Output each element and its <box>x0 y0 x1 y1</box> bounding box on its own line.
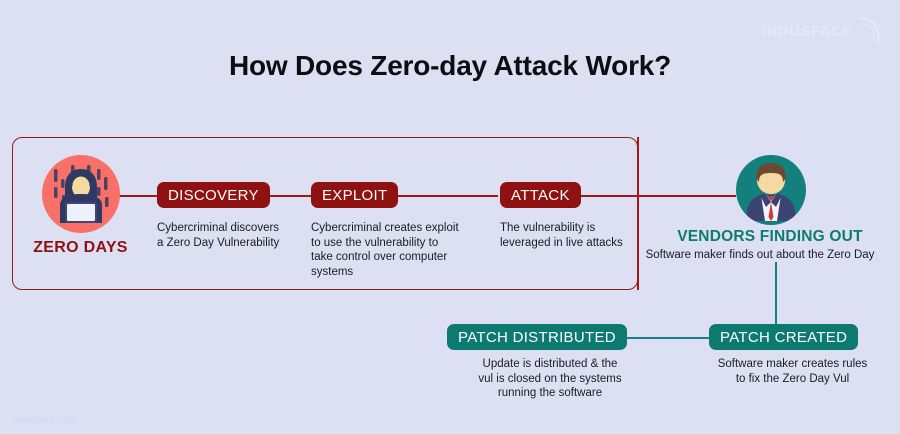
connector-exploit-to-attack <box>383 195 498 197</box>
step-patch-distributed-badge[interactable]: PATCH DISTRIBUTED <box>447 324 627 350</box>
step-exploit-description: Cybercriminal creates exploit to use the… <box>311 221 491 279</box>
businessman-suit-tie-icon <box>736 155 806 225</box>
step-exploit-badge[interactable]: EXPLOIT <box>311 182 398 208</box>
step-attack-badge[interactable]: ATTACK <box>500 182 581 208</box>
step-attack-description: The vulnerability is leveraged in live a… <box>500 221 660 250</box>
page-title: How Does Zero-day Attack Work? <box>0 50 900 82</box>
step-patch-created-description: Software maker creates rules to fix the … <box>690 357 895 386</box>
infographic-canvas: INDUSFACE How Does Zero-day Attack Work? <box>0 0 900 434</box>
connector-attack-to-vendor <box>568 195 736 197</box>
step-patch-distributed-description: Update is distributed & the vul is close… <box>440 357 660 401</box>
step-discovery-badge[interactable]: DISCOVERY <box>157 182 270 208</box>
brand-logo: INDUSFACE <box>762 16 882 46</box>
step-patch-created-badge[interactable]: PATCH CREATED <box>709 324 858 350</box>
actor-vendor-description: Software maker finds out about the Zero … <box>620 248 900 262</box>
footer-watermark: indusface.com <box>14 414 76 424</box>
actor-zero-days: ZERO DAYS <box>33 155 128 257</box>
actor-vendor <box>735 155 807 225</box>
actor-vendor-title: VENDORS FINDING OUT <box>640 228 900 246</box>
swoosh-arc-icon <box>856 16 882 46</box>
hacker-hoodie-laptop-icon <box>42 155 120 233</box>
frame-divider-vertical <box>637 137 639 290</box>
actor-zero-days-label: ZERO DAYS <box>33 239 128 257</box>
step-discovery-description: Cybercriminal discovers a Zero Day Vulne… <box>157 221 327 250</box>
brand-logo-text: INDUSFACE <box>762 23 853 40</box>
